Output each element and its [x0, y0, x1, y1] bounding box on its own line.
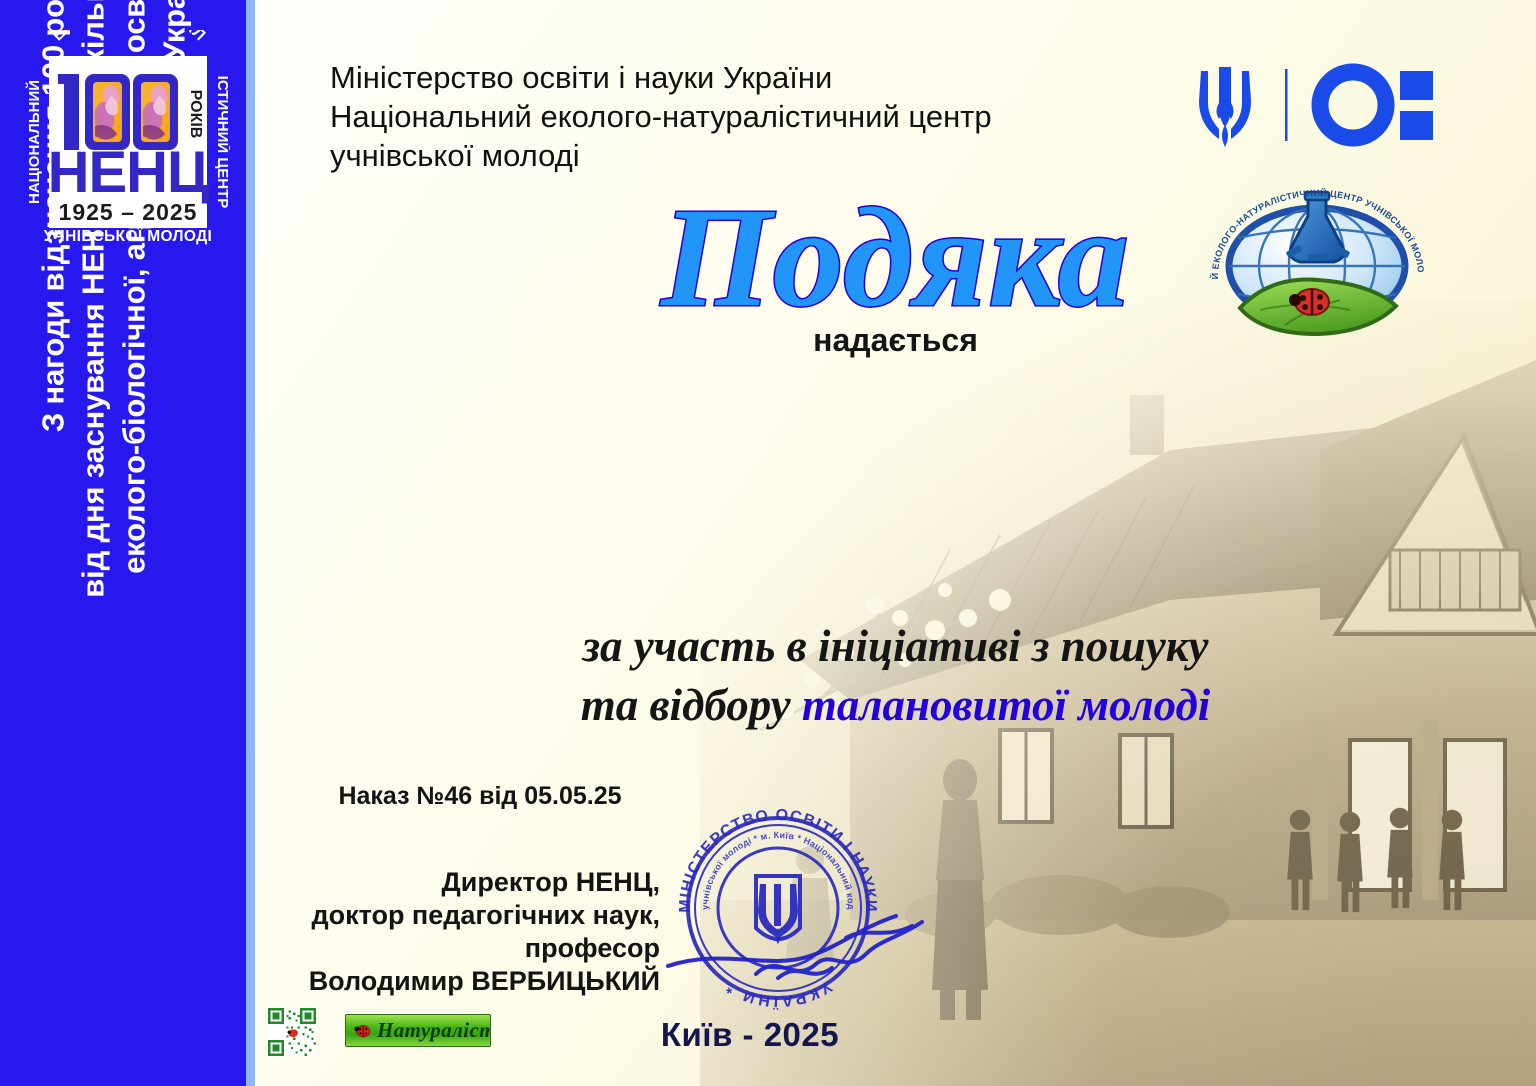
- svg-text:НАЦІОНАЛЬНИЙ: НАЦІОНАЛЬНИЙ: [25, 80, 43, 204]
- svg-text:ЕКОЛОГО-НАТУРАЛ: ЕКОЛОГО-НАТУРАЛ: [49, 30, 208, 44]
- handwritten-signature: [668, 916, 922, 978]
- svg-text:РОКІВ: РОКІВ: [187, 90, 204, 139]
- ministry-header: Міністерство освіти і науки України Наці…: [330, 58, 1160, 175]
- certificate-page: З нагоди відзначення 100 років від дня з…: [0, 0, 1536, 1086]
- sidebar-accent-stripe: [246, 0, 255, 1086]
- svg-text:УКРАЇНИ *: УКРАЇНИ *: [721, 977, 834, 1010]
- page-title: Подяка: [255, 186, 1536, 328]
- award-reason-highlight: талановитої молоді: [802, 680, 1210, 730]
- award-reason-text: за участь в ініціативі з пошуку та відбо…: [255, 617, 1536, 734]
- qr-code[interactable]: [268, 1008, 316, 1056]
- ukraine-trident-icon: [1199, 67, 1251, 147]
- state-crest-row: [1195, 55, 1455, 155]
- award-reason-prefix: та відбору: [581, 680, 802, 730]
- title-subtitle: надається: [255, 322, 1536, 359]
- svg-text:НЕНЦ: НЕНЦ: [48, 140, 209, 205]
- svg-text:ІСТИЧНИЙ ЦЕНТР: ІСТИЧНИЙ ЦЕНТР: [214, 76, 230, 209]
- svg-text:1925 – 2025: 1925 – 2025: [59, 199, 198, 225]
- mon-logo-icon: [1320, 71, 1433, 140]
- signatory-block: Директор НЕНЦ, доктор педагогічних наук,…: [280, 866, 660, 998]
- award-reason-line-2: та відбору талановитої молоді: [255, 676, 1536, 735]
- official-seal-stamp: МІНІСТЕРСТВО ОСВІТИ І НАУКИ УКРАЇНИ * уч…: [660, 788, 930, 1023]
- naturalist-badge[interactable]: Натураліст: [345, 1014, 491, 1047]
- svg-text:УЧНІВСЬКОЇ МОЛОДІ: УЧНІВСЬКОЇ МОЛОДІ: [44, 228, 213, 245]
- divider-line: [1285, 69, 1288, 141]
- award-reason-line-1: за участь в ініціативі з пошуку: [255, 617, 1536, 676]
- naturalist-badge-label: Натураліст: [377, 1018, 491, 1043]
- ladybug-icon: [354, 1023, 371, 1038]
- city-year: Київ - 2025: [560, 1016, 940, 1054]
- order-reference: Наказ №46 від 05.05.25: [300, 782, 660, 811]
- nenc-100-anniversary-logo: ЕКОЛОГО-НАТУРАЛ НАЦІОНАЛЬНИЙ ІСТИЧНИЙ ЦЕ…: [25, 30, 230, 245]
